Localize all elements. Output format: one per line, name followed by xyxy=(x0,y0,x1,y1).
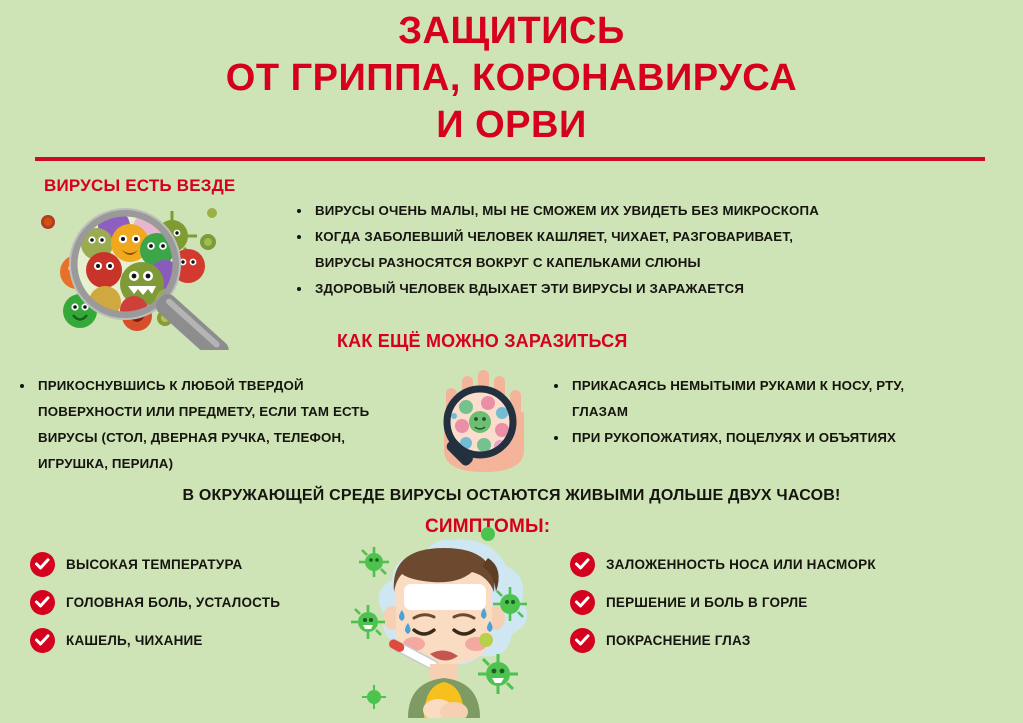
list-item: КОГДА ЗАБОЛЕВШИЙ ЧЕЛОВЕК КАШЛЯЕТ, ЧИХАЕТ… xyxy=(293,224,913,276)
dirty-hand-illustration xyxy=(418,358,552,476)
symptom-label: ГОЛОВНАЯ БОЛЬ, УСТАЛОСТЬ xyxy=(66,595,280,610)
title-line-3: И ОРВИ xyxy=(0,102,1023,149)
poster-title: ЗАЩИТИСЬ ОТ ГРИППА, КОРОНАВИРУСА И ОРВИ xyxy=(0,8,1023,149)
list-item: ГОЛОВНАЯ БОЛЬ, УСТАЛОСТЬ xyxy=(30,583,280,621)
bullet-line: ЗДОРОВЫЙ ЧЕЛОВЕК ВДЫХАЕТ ЭТИ ВИРУСЫ И ЗА… xyxy=(315,281,744,296)
check-circle-icon xyxy=(30,590,55,615)
symptom-list-left: ВЫСОКАЯ ТЕМПЕРАТУРА ГОЛОВНАЯ БОЛЬ, УСТАЛ… xyxy=(30,545,280,659)
list-item: ПРИКОСНУВШИСЬ К ЛЮБОЙ ТВЕРДОЙ ПОВЕРХНОСТ… xyxy=(16,373,416,477)
symptom-list-right: ЗАЛОЖЕННОСТЬ НОСА ИЛИ НАСМОРК ПЕРШЕНИЕ И… xyxy=(570,545,876,659)
list-item: ПРИКАСАЯСЬ НЕМЫТЫМИ РУКАМИ К НОСУ, РТУ, … xyxy=(550,373,970,425)
bullet-line: ПРИКАСАЯСЬ НЕМЫТЫМИ РУКАМИ К НОСУ, РТУ, xyxy=(572,378,904,393)
bullet-line-cont: ВИРУСЫ РАЗНОСЯТСЯ ВОКРУГ С КАПЕЛЬКАМИ СЛ… xyxy=(315,250,913,276)
bullet-line-cont: ВИРУСЫ (СТОЛ, ДВЕРНАЯ РУЧКА, ТЕЛЕФОН, xyxy=(38,425,416,451)
list-item: ЗДОРОВЫЙ ЧЕЛОВЕК ВДЫХАЕТ ЭТИ ВИРУСЫ И ЗА… xyxy=(293,276,913,302)
sick-child-illustration xyxy=(338,522,562,718)
title-line-2: ОТ ГРИППА, КОРОНАВИРУСА xyxy=(0,55,1023,102)
check-circle-icon xyxy=(30,628,55,653)
symptom-label: ПОКРАСНЕНИЕ ГЛАЗ xyxy=(606,633,751,648)
bullet-list-unwashed-hands: ПРИКАСАЯСЬ НЕМЫТЫМИ РУКАМИ К НОСУ, РТУ, … xyxy=(550,373,970,451)
check-circle-icon xyxy=(570,628,595,653)
bullet-line-cont: ГЛАЗАМ xyxy=(572,399,970,425)
heading-how-else-infected: КАК ЕЩЁ МОЖНО ЗАРАЗИТЬСЯ xyxy=(337,331,628,352)
check-circle-icon xyxy=(30,552,55,577)
list-item: ПРИ РУКОПОЖАТИЯХ, ПОЦЕЛУЯХ И ОБЪЯТИЯХ xyxy=(550,425,970,451)
check-circle-icon xyxy=(570,552,595,577)
bullet-line: ВИРУСЫ ОЧЕНЬ МАЛЫ, МЫ НЕ СМОЖЕМ ИХ УВИДЕ… xyxy=(315,203,819,218)
symptom-label: КАШЕЛЬ, ЧИХАНИЕ xyxy=(66,633,203,648)
bullet-line: ПРИКОСНУВШИСЬ К ЛЮБОЙ ТВЕРДОЙ xyxy=(38,378,304,393)
bullet-line-cont: ИГРУШКА, ПЕРИЛА) xyxy=(38,451,416,477)
title-divider xyxy=(35,157,985,161)
list-item: ВИРУСЫ ОЧЕНЬ МАЛЫ, МЫ НЕ СМОЖЕМ ИХ УВИДЕ… xyxy=(293,198,913,224)
check-circle-icon xyxy=(570,590,595,615)
list-item: ЗАЛОЖЕННОСТЬ НОСА ИЛИ НАСМОРК xyxy=(570,545,876,583)
heading-viruses-everywhere: ВИРУСЫ ЕСТЬ ВЕЗДЕ xyxy=(44,176,235,196)
bullet-list-viruses-everywhere: ВИРУСЫ ОЧЕНЬ МАЛЫ, МЫ НЕ СМОЖЕМ ИХ УВИДЕ… xyxy=(293,198,913,302)
symptom-label: ЗАЛОЖЕННОСТЬ НОСА ИЛИ НАСМОРК xyxy=(606,557,876,572)
bullet-line: КОГДА ЗАБОЛЕВШИЙ ЧЕЛОВЕК КАШЛЯЕТ, ЧИХАЕТ… xyxy=(315,229,793,244)
list-item: ПЕРШЕНИЕ И БОЛЬ В ГОРЛЕ xyxy=(570,583,876,621)
survival-statement: В ОКРУЖАЮЩЕЙ СРЕДЕ ВИРУСЫ ОСТАЮТСЯ ЖИВЫМ… xyxy=(0,487,1023,505)
germ-cluster-illustration xyxy=(22,198,262,350)
bullet-line-cont: ПОВЕРХНОСТИ ИЛИ ПРЕДМЕТУ, ЕСЛИ ТАМ ЕСТЬ xyxy=(38,399,416,425)
list-item: ВЫСОКАЯ ТЕМПЕРАТУРА xyxy=(30,545,280,583)
symptom-label: ПЕРШЕНИЕ И БОЛЬ В ГОРЛЕ xyxy=(606,595,807,610)
symptom-label: ВЫСОКАЯ ТЕМПЕРАТУРА xyxy=(66,557,242,572)
bullet-line: ПРИ РУКОПОЖАТИЯХ, ПОЦЕЛУЯХ И ОБЪЯТИЯХ xyxy=(572,430,896,445)
bullet-list-touch-surfaces: ПРИКОСНУВШИСЬ К ЛЮБОЙ ТВЕРДОЙ ПОВЕРХНОСТ… xyxy=(16,373,416,477)
title-line-1: ЗАЩИТИСЬ xyxy=(0,8,1023,55)
poster: ЗАЩИТИСЬ ОТ ГРИППА, КОРОНАВИРУСА И ОРВИ … xyxy=(0,0,1023,718)
list-item: КАШЕЛЬ, ЧИХАНИЕ xyxy=(30,621,280,659)
list-item: ПОКРАСНЕНИЕ ГЛАЗ xyxy=(570,621,876,659)
